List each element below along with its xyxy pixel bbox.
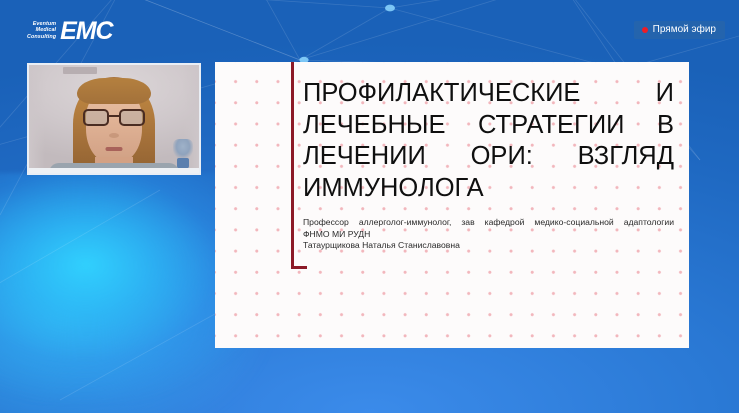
logo-wordmark: Eventum Medical Consulting	[27, 21, 56, 42]
live-broadcast-badge[interactable]: Прямой эфир	[634, 21, 725, 39]
speaker-glasses	[83, 109, 145, 127]
slide-accent-rule-foot	[291, 266, 307, 269]
logo-word-eventum: Eventum	[33, 21, 56, 28]
emc-logo: Eventum Medical Consulting EMC	[27, 15, 112, 47]
live-record-dot-icon	[642, 27, 648, 33]
slide-title: ПРОФИЛАКТИЧЕСКИЕ И ЛЕЧЕБНЫЕ СТРАТЕГИИ В …	[303, 78, 674, 204]
logo-emc-mark: EMC	[60, 19, 112, 44]
slide-subtitle: Профессор аллерголог-иммунолог, зав кафе…	[303, 217, 674, 252]
slide-title-line-2: ЛЕЧЕБНЫЕ СТРАТЕГИИ В	[303, 110, 674, 142]
slide-title-line-1: ПРОФИЛАКТИЧЕСКИЕ И	[303, 78, 674, 110]
slide-subtitle-role: Профессор аллерголог-иммунолог, зав кафе…	[303, 217, 674, 229]
glasses-bridge	[109, 115, 119, 117]
slide-content: ПРОФИЛАКТИЧЕСКИЕ И ЛЕЧЕБНЫЕ СТРАТЕГИИ В …	[303, 78, 674, 252]
logo-word-consulting: Consulting	[27, 34, 56, 41]
video-edge-left	[29, 65, 45, 173]
video-wall-shelf	[63, 67, 97, 74]
speaker-nose	[109, 133, 119, 138]
presentation-slide[interactable]: ПРОФИЛАКТИЧЕСКИЕ И ЛЕЧЕБНЫЕ СТРАТЕГИИ В …	[215, 62, 689, 348]
logo-word-medical: Medical	[36, 27, 56, 34]
speaker-video-tile[interactable]	[27, 63, 201, 175]
broadcast-stage: Eventum Medical Consulting EMC Прямой эф…	[0, 0, 739, 413]
slide-title-line-3: ЛЕЧЕНИИ ОРИ: ВЗГЛЯД	[303, 141, 674, 173]
glasses-lens-right	[119, 109, 145, 126]
top-header-bar: Eventum Medical Consulting EMC Прямой эф…	[0, 0, 739, 62]
speaker-mouth	[106, 147, 123, 151]
glasses-lens-left	[83, 109, 109, 126]
slide-subtitle-institution: ФНМО МИ РУДН	[303, 229, 674, 241]
live-badge-label: Прямой эфир	[653, 25, 716, 35]
slide-accent-rule	[291, 62, 294, 269]
video-background-object	[173, 139, 193, 169]
slide-subtitle-speaker-name: Татаурщикова Наталья Станиславовна	[303, 240, 674, 252]
speaker-fringe	[77, 78, 151, 104]
video-tile-bottom-bar	[29, 168, 199, 173]
slide-title-line-4: ИММУНОЛОГА	[303, 173, 674, 205]
